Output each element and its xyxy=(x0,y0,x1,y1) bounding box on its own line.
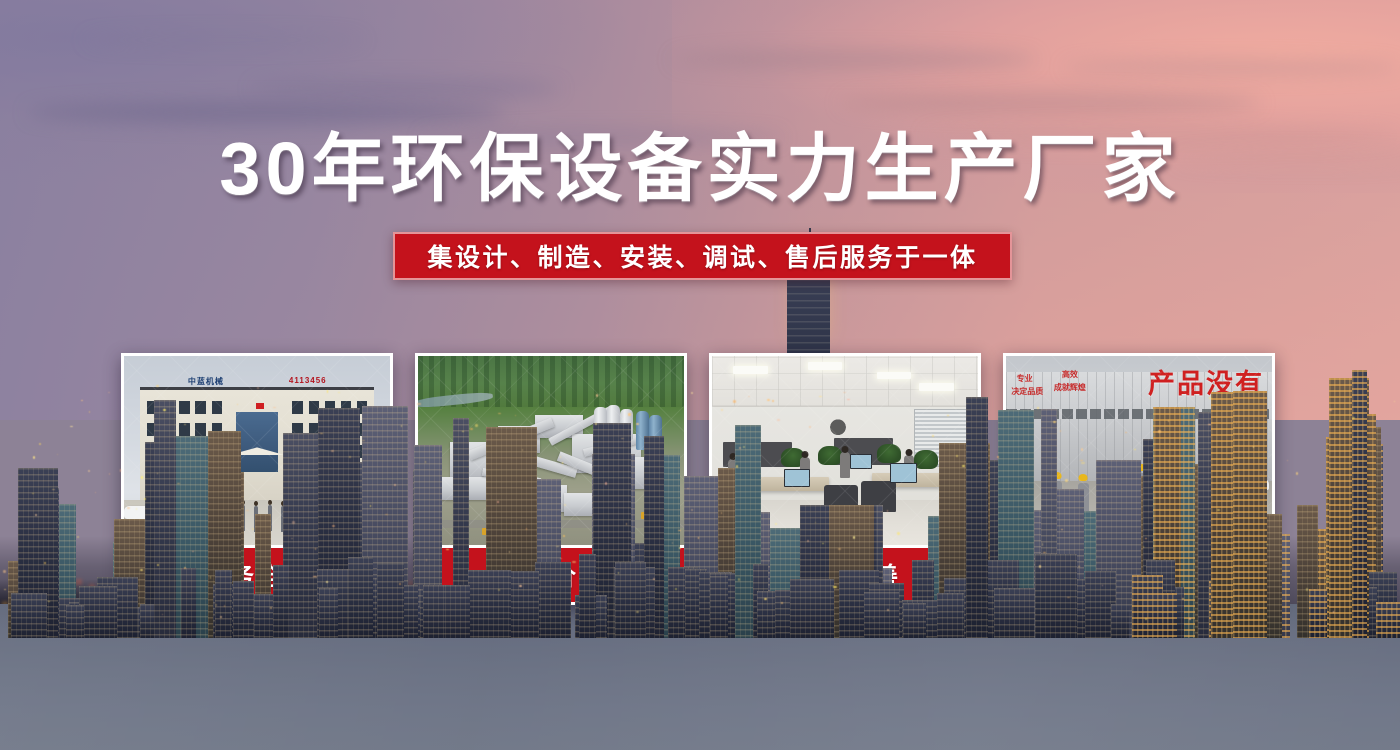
building-window-light xyxy=(184,567,186,568)
building-window-light xyxy=(108,392,111,393)
skyline-building xyxy=(233,581,254,638)
factory-wall-slogan-small: 专业 xyxy=(1017,374,1033,383)
skyline-building xyxy=(535,562,571,637)
building-window-light xyxy=(291,538,293,539)
potted-plant xyxy=(914,450,938,470)
computer-monitor xyxy=(890,463,917,483)
potted-plant xyxy=(818,446,842,466)
building-window-light xyxy=(675,588,676,590)
building-window-light xyxy=(220,616,221,618)
building-window-light xyxy=(4,589,6,590)
building-window-light xyxy=(572,561,575,563)
skyline-building xyxy=(79,586,117,638)
building-sign-text: 中蓝机械 xyxy=(188,376,224,387)
building-window-light xyxy=(57,454,59,455)
shore-light xyxy=(77,580,81,584)
building-window-light xyxy=(748,396,750,397)
building-window-light xyxy=(426,559,427,560)
page-title: 30年环保设备实力生产厂家 xyxy=(0,132,1400,206)
skyline-building xyxy=(615,562,646,638)
building-window xyxy=(179,423,189,436)
building-window xyxy=(212,401,222,414)
promo-banner: 30年环保设备实力生产厂家 集设计、制造、安装、调试、售后服务于一体 中蓝机械 … xyxy=(0,0,1400,750)
skyline-building xyxy=(348,557,373,637)
skyline-building xyxy=(377,563,404,638)
building-window-light xyxy=(1189,618,1191,620)
building-window-light xyxy=(446,549,449,550)
building-window-light xyxy=(721,409,723,411)
building-window-light xyxy=(1208,424,1211,425)
skyline-building xyxy=(273,565,288,638)
office-ceiling xyxy=(712,356,978,407)
skyline-building xyxy=(445,585,470,638)
building-window xyxy=(195,423,205,436)
building-window-light xyxy=(95,492,97,493)
skyline-building xyxy=(937,593,964,637)
building-window-light xyxy=(77,536,79,537)
building-window-light xyxy=(140,569,143,571)
building-window-light xyxy=(70,426,73,427)
building-window-light xyxy=(417,403,420,405)
building-window-light xyxy=(733,400,736,402)
ceiling-light-panel xyxy=(919,383,954,391)
building-window-light xyxy=(809,426,810,427)
skyline-building xyxy=(181,568,196,638)
building-window-light xyxy=(1306,588,1308,590)
building-window-light xyxy=(777,419,780,421)
skyline-building xyxy=(1376,602,1400,638)
building-window-light xyxy=(141,476,142,478)
building-window-light xyxy=(772,400,774,402)
building-window-light xyxy=(81,400,83,401)
building-window-light xyxy=(672,542,673,544)
skyline-building xyxy=(1352,370,1367,638)
building-window-light xyxy=(678,530,681,531)
building-window-light xyxy=(292,521,294,523)
building-window xyxy=(292,401,302,414)
skyline-building xyxy=(710,576,728,638)
building-window-light xyxy=(1065,479,1068,481)
employee xyxy=(840,452,850,478)
building-window-light xyxy=(1043,552,1046,553)
building-window-light xyxy=(1158,430,1161,432)
skyline-building xyxy=(468,570,511,637)
skyline-building xyxy=(66,605,83,638)
building-window-light xyxy=(738,578,740,580)
building-window-light xyxy=(1287,460,1289,462)
building-window-light xyxy=(1037,407,1039,409)
skyline-building xyxy=(790,579,834,638)
building-window-light xyxy=(739,447,741,448)
building-window-light xyxy=(1053,421,1056,423)
computer-monitor xyxy=(850,454,871,470)
building-window-light xyxy=(270,607,272,608)
skyline-building xyxy=(1142,593,1177,637)
building-window-light xyxy=(246,510,248,511)
building-window-light xyxy=(327,390,328,393)
skyline-building xyxy=(1309,589,1327,638)
building-window-light xyxy=(331,450,334,452)
building-window-light xyxy=(764,598,767,600)
skyline-building xyxy=(994,588,1034,637)
building-window-light xyxy=(1237,515,1238,517)
building-window-light xyxy=(887,609,888,611)
building-window-light xyxy=(636,611,639,613)
building-window-light xyxy=(475,424,478,426)
building-window-light xyxy=(596,394,598,396)
building-window-light xyxy=(721,512,722,514)
skyline-building xyxy=(864,592,899,637)
building-window-light xyxy=(887,510,888,511)
building-window-light xyxy=(52,489,55,490)
skyline-building xyxy=(319,588,338,638)
building-window-light xyxy=(947,415,949,416)
skyline-building xyxy=(215,570,232,638)
skyline-building xyxy=(903,603,925,637)
computer-monitor xyxy=(784,469,811,487)
skyline-building xyxy=(966,397,988,638)
building-window-light xyxy=(897,532,899,534)
building-window-light xyxy=(184,424,185,425)
building-window-light xyxy=(736,465,737,467)
subtitle-banner: 集设计、制造、安装、调试、售后服务于一体 xyxy=(393,232,1012,280)
building-window-light xyxy=(224,605,225,607)
ceiling-light-panel xyxy=(808,362,843,370)
building-phone-number: 4113456 xyxy=(289,376,327,385)
building-window-light xyxy=(1352,417,1355,419)
building-window-light xyxy=(35,514,37,515)
building-window xyxy=(195,401,205,414)
ceiling-light-panel xyxy=(877,372,912,380)
building-window-light xyxy=(88,470,89,472)
subtitle-text: 集设计、制造、安装、调试、售后服务于一体 xyxy=(427,238,977,274)
building-window-light xyxy=(519,585,522,587)
building-window-light xyxy=(1265,562,1267,564)
building-window-light xyxy=(394,484,395,486)
building-window-light xyxy=(833,586,836,588)
building-window-light xyxy=(526,528,527,530)
building-entrance-glass xyxy=(236,412,278,471)
building-window-light xyxy=(144,498,146,500)
building-window-light xyxy=(33,456,35,458)
building-window-light xyxy=(636,423,639,424)
building-window-light xyxy=(498,589,500,591)
building-window-light xyxy=(1081,462,1084,464)
wall-decal xyxy=(818,411,858,438)
building-window-light xyxy=(1218,555,1221,556)
building-window-light xyxy=(462,431,464,432)
flag xyxy=(256,403,264,409)
building-window-light xyxy=(1217,509,1220,511)
building-window-light xyxy=(1080,460,1083,461)
building-window-light xyxy=(847,399,850,400)
building-window-light xyxy=(1394,401,1395,402)
skyline-building xyxy=(579,554,596,637)
building-window-light xyxy=(1351,515,1353,516)
building-window-light xyxy=(1253,446,1254,448)
building-window-light xyxy=(39,443,41,445)
building-window xyxy=(179,401,189,414)
building-window-light xyxy=(252,528,254,530)
skyline-building xyxy=(154,400,176,637)
building-window-light xyxy=(819,396,822,397)
building-window-light xyxy=(1374,527,1377,528)
building-window-light xyxy=(628,413,631,415)
building-window-light xyxy=(1081,448,1083,451)
building-window-light xyxy=(853,536,855,539)
ceiling-tile-grid xyxy=(712,356,978,406)
building-window-light xyxy=(156,385,159,386)
building-window-light xyxy=(1145,618,1147,620)
building-window-light xyxy=(1333,611,1334,613)
skyline-building xyxy=(1111,604,1129,637)
potted-plant xyxy=(877,444,901,464)
factory-wall-slogan-small: 高效 xyxy=(1062,370,1078,379)
building-window-light xyxy=(313,576,316,577)
building-window-light xyxy=(120,469,121,472)
building-window-light xyxy=(320,433,323,434)
factory-wall-slogan-small: 成就辉煌 xyxy=(1054,383,1086,392)
building-window-light xyxy=(1078,566,1080,567)
building-window-light xyxy=(385,514,388,515)
skyline-building xyxy=(1035,554,1076,638)
building-window-light xyxy=(1168,420,1169,422)
building-window-light xyxy=(89,411,91,413)
building-window-light xyxy=(109,473,110,474)
building-window-light xyxy=(163,409,166,411)
building-window-light xyxy=(332,525,335,527)
building-window-light xyxy=(3,570,6,572)
building-window-light xyxy=(1296,472,1298,474)
skyline-building xyxy=(11,593,47,637)
building-window-light xyxy=(44,562,46,563)
building-window-light xyxy=(522,449,523,451)
building-window-light xyxy=(822,543,823,544)
factory-wall-slogan-small: 决定品质 xyxy=(1011,387,1043,396)
building-window-light xyxy=(997,456,999,457)
ceiling-light-panel xyxy=(733,366,768,374)
